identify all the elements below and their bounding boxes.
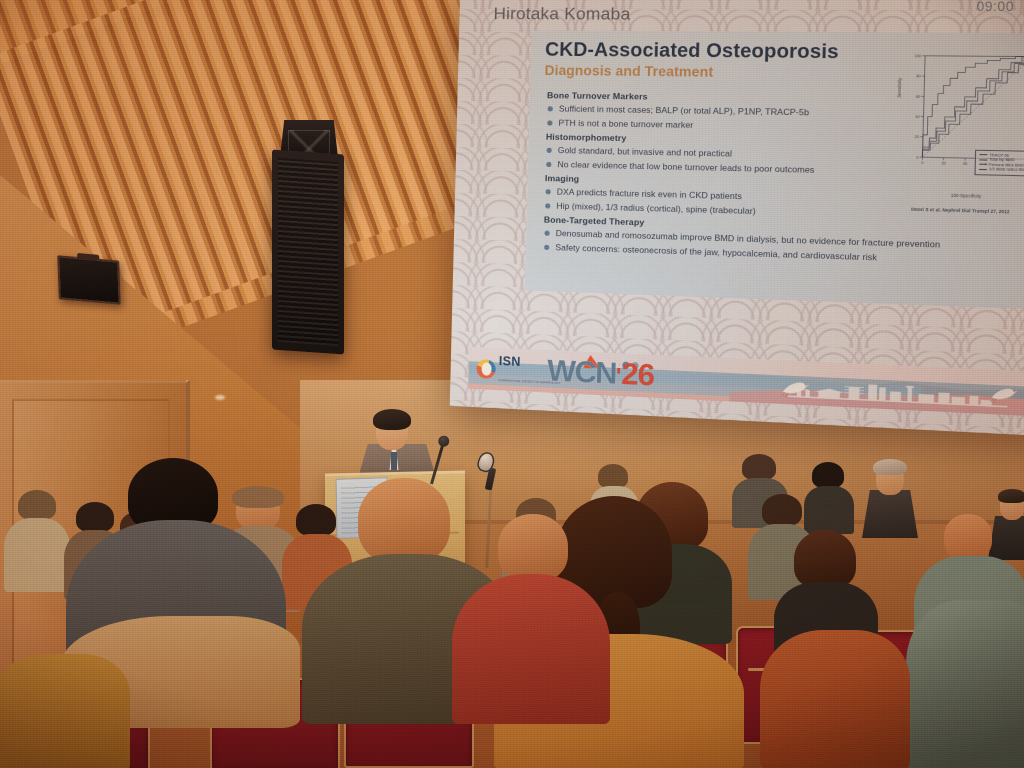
torso bbox=[4, 518, 70, 592]
head bbox=[498, 514, 568, 582]
legend-swatch bbox=[979, 169, 987, 170]
hair bbox=[742, 454, 776, 480]
wcn-prefix: WCN bbox=[547, 356, 617, 390]
crane-icon bbox=[779, 379, 810, 399]
roc-y-axis-label: Sensitivity bbox=[896, 78, 902, 98]
conference-hall-photo: Hirotaka Komaba CKD-Associated Osteoporo… bbox=[0, 0, 1024, 768]
roc-legend: TRACP-5b Total hip BMD Femoral neck BMD … bbox=[974, 149, 1024, 176]
torso bbox=[452, 574, 610, 724]
hair bbox=[598, 464, 628, 488]
legend-label: TRACP-5b bbox=[989, 153, 1009, 158]
legend-swatch bbox=[979, 159, 987, 160]
wall-clock-readout: 09:00 bbox=[976, 0, 1014, 14]
svg-text:40: 40 bbox=[915, 115, 920, 119]
slide-panel: CKD-Associated Osteoporosis Diagnosis an… bbox=[525, 30, 1024, 309]
wcn-wordmark: WCN ' 26 bbox=[547, 356, 655, 391]
wcn-year: 26 bbox=[621, 359, 654, 391]
legend-entry: 1/3 distal radius BMD bbox=[979, 167, 1024, 172]
legend-swatch bbox=[979, 164, 987, 165]
audience-member-foreground bbox=[906, 600, 1024, 768]
audience-seating bbox=[0, 440, 1024, 768]
hair bbox=[812, 462, 844, 488]
roc-series-1 bbox=[922, 56, 1024, 160]
audience-member-foreground bbox=[0, 654, 130, 768]
hair bbox=[794, 530, 856, 588]
isn-name: ISN bbox=[499, 354, 521, 369]
roc-series-4 bbox=[922, 56, 1024, 160]
svg-text:0: 0 bbox=[916, 155, 918, 159]
roc-series-2 bbox=[922, 56, 1024, 160]
head bbox=[358, 478, 450, 564]
wall-monitor bbox=[57, 255, 120, 305]
legend-label: 1/3 distal radius BMD bbox=[989, 167, 1024, 172]
svg-text:20: 20 bbox=[915, 135, 920, 139]
isn-emblem-icon bbox=[476, 359, 496, 379]
audience-member-foreground bbox=[760, 630, 910, 768]
svg-text:80: 80 bbox=[916, 74, 921, 78]
hair bbox=[762, 494, 802, 526]
hair bbox=[296, 504, 336, 536]
presenter-name-label: Hirotaka Komaba bbox=[493, 4, 630, 25]
svg-text:20: 20 bbox=[941, 161, 946, 165]
line-array-speaker bbox=[272, 149, 344, 354]
torso bbox=[804, 486, 854, 534]
hair bbox=[232, 486, 284, 508]
svg-text:0: 0 bbox=[921, 161, 923, 165]
hair bbox=[18, 490, 56, 520]
svg-text:60: 60 bbox=[916, 95, 921, 99]
hair bbox=[76, 502, 114, 532]
svg-text:100: 100 bbox=[915, 54, 922, 58]
roc-x-axis-label: 100-Specificity bbox=[895, 191, 1024, 200]
roc-series-0 bbox=[922, 56, 1024, 160]
roc-curve-chart: 020406080100 020406080100 Sensitivity 10… bbox=[895, 49, 1024, 213]
downlight bbox=[215, 395, 225, 400]
svg-text:40: 40 bbox=[963, 162, 968, 166]
slide-section-bone-targeted-therapy: Bone-Targeted Therapy Denosumab and romo… bbox=[540, 214, 1024, 268]
roc-curves bbox=[922, 56, 1024, 160]
projection-screen: Hirotaka Komaba CKD-Associated Osteoporo… bbox=[450, 0, 1024, 437]
crane-icon bbox=[989, 385, 1019, 404]
roc-series-3 bbox=[922, 56, 1024, 160]
head bbox=[944, 514, 992, 560]
presenter-glasses bbox=[376, 427, 407, 433]
legend-swatch bbox=[979, 154, 987, 155]
